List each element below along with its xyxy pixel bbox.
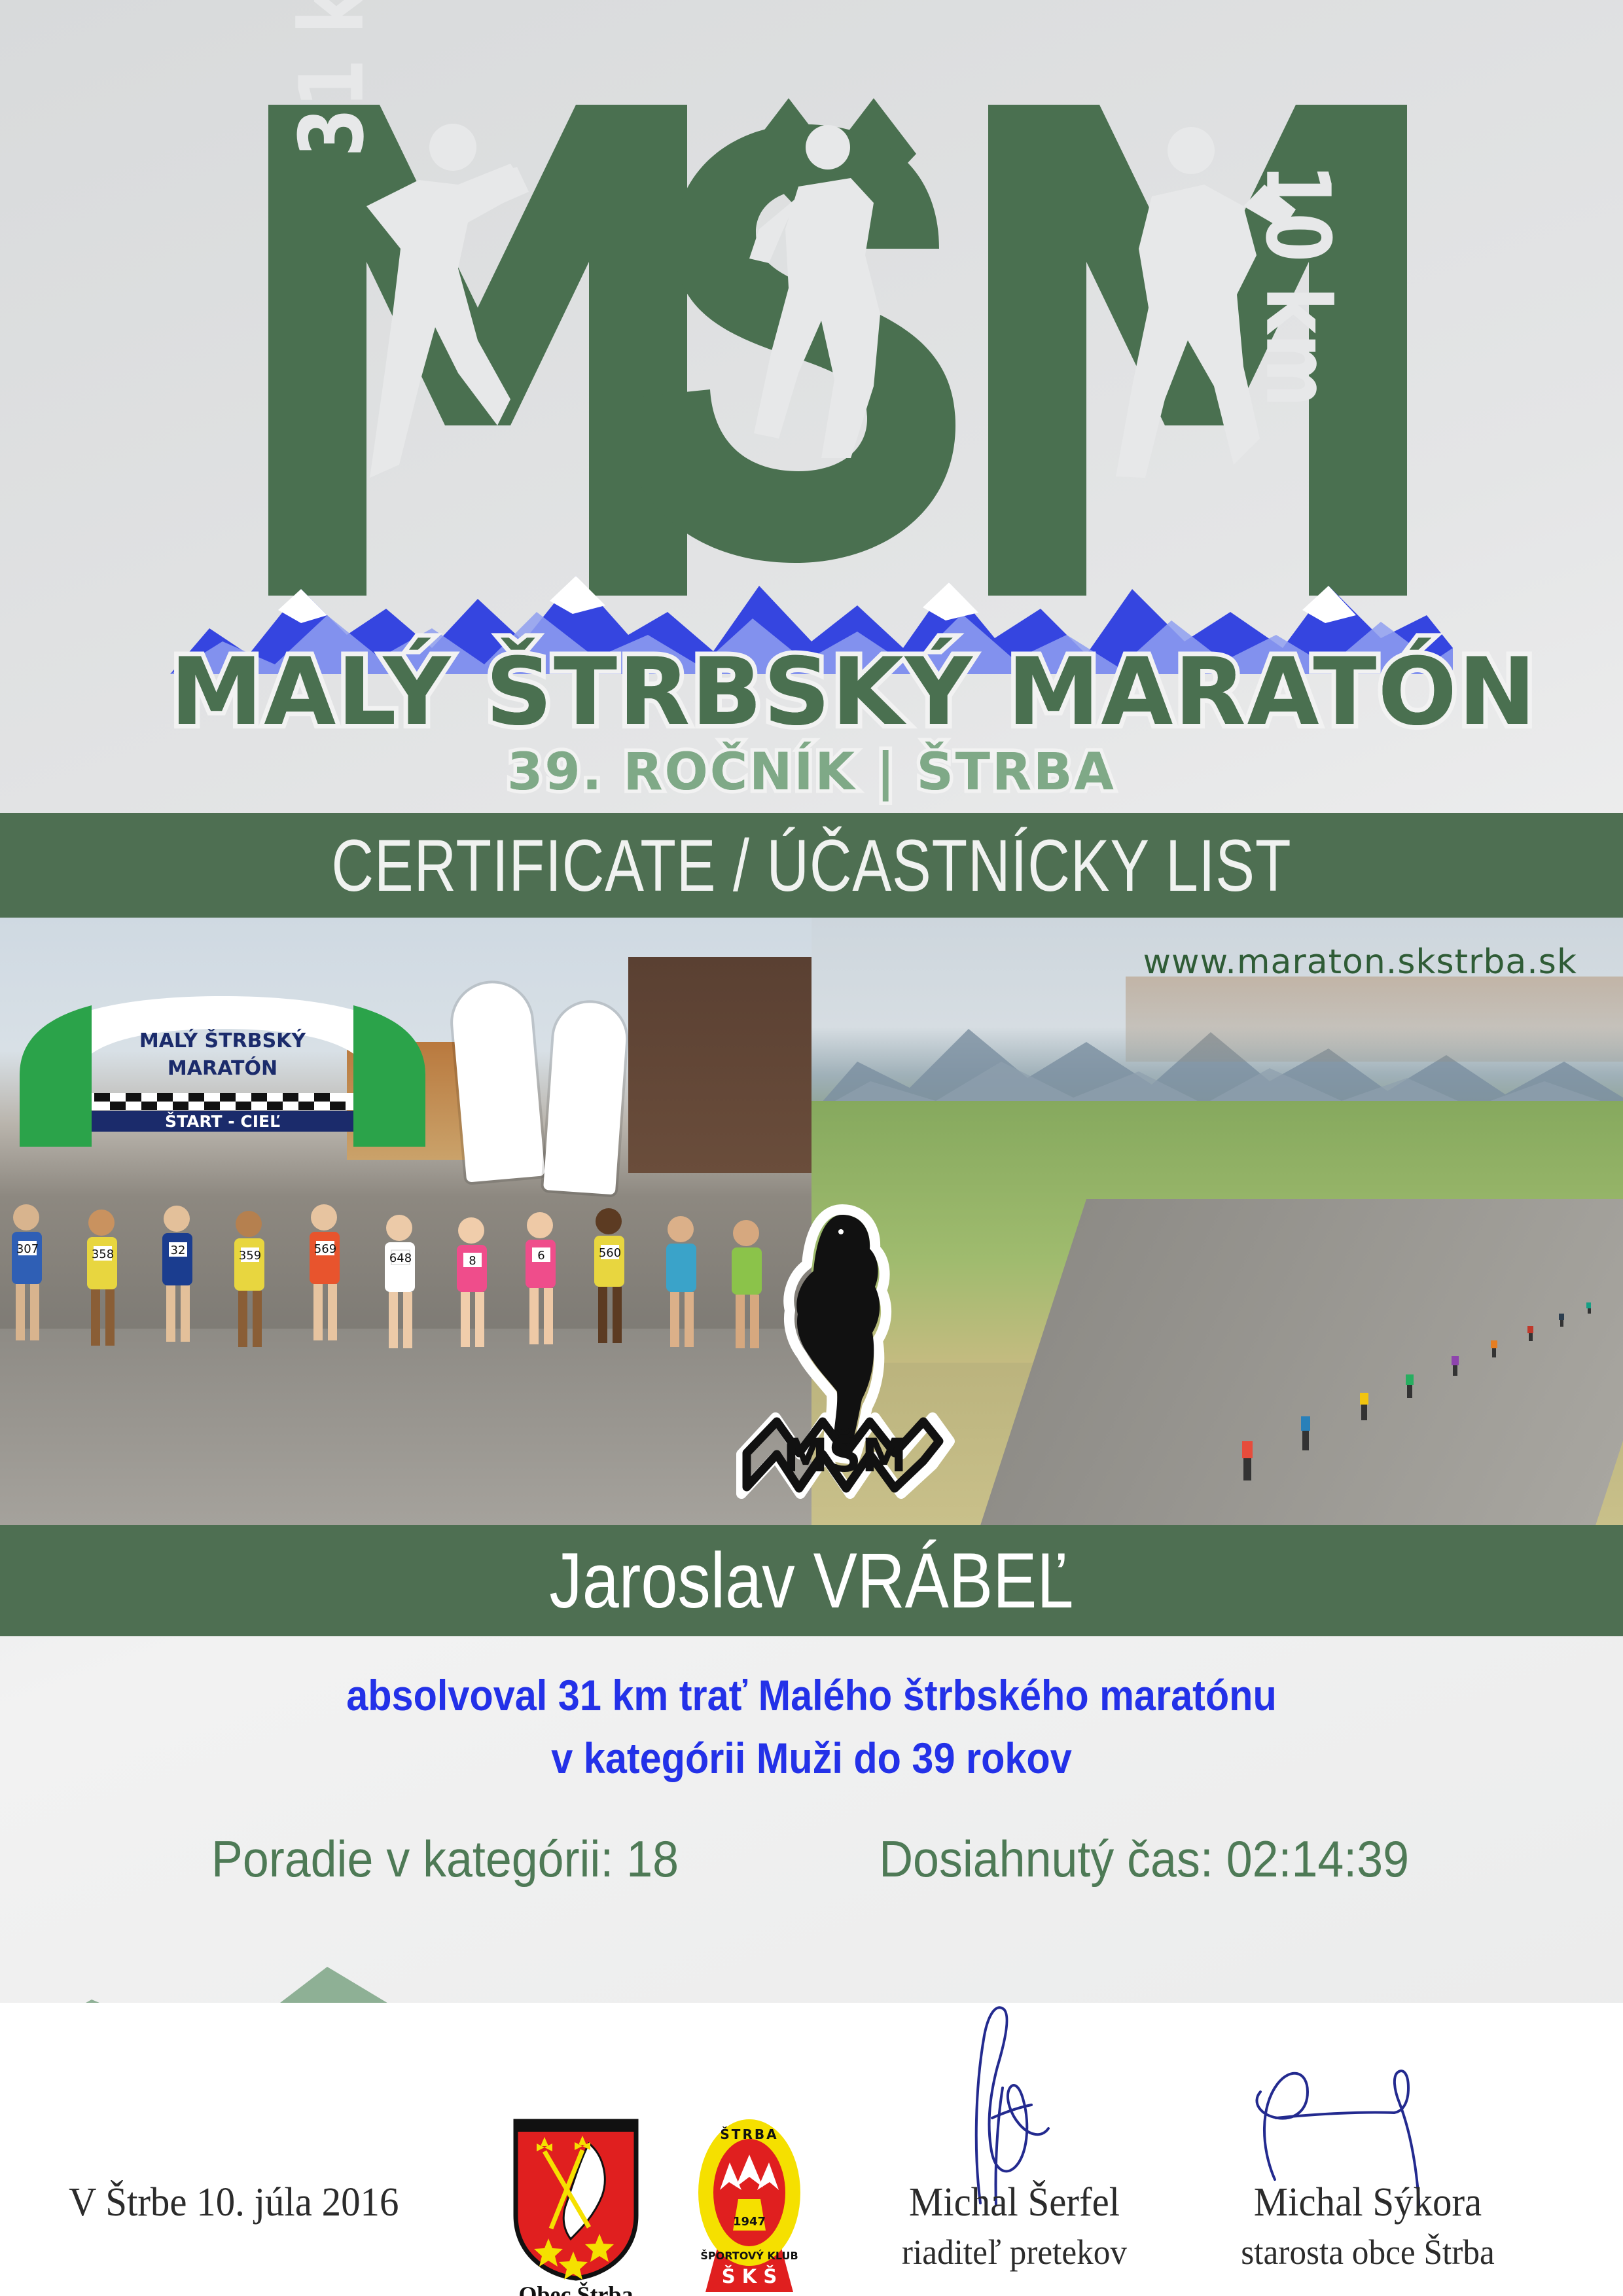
club-year: 1947: [733, 2215, 766, 2229]
svg-text:648: 648: [389, 1251, 412, 1265]
wordmark: MALÝ ŠTRBSKÝ MARATÓN: [170, 638, 1453, 746]
club-top-text: ŠTRBA: [720, 2126, 778, 2142]
rank-in-category: Poradie v kategórii: 18: [211, 1829, 679, 1889]
svg-text:32: 32: [171, 1244, 186, 1257]
signature-role-director: riaditeľ pretekov: [853, 2232, 1176, 2272]
footer: V Štrbe 10. júla 2016 Obec Štrba Š K Š: [0, 2081, 1623, 2296]
svg-text:ŠTART - CIEĽ: ŠTART - CIEĽ: [165, 1111, 280, 1131]
certificate-page: 31 km 10 km MALÝ ŠTRBSKÝ MARATÓN MALÝ ŠT…: [0, 0, 1623, 2296]
svg-text:358: 358: [92, 1247, 114, 1261]
photo-start-line: ŠTART - CIEĽ MALÝ ŠTRBSKÝ MARATÓN 307 35…: [0, 918, 811, 1525]
signature-name-director: Michal Šerfel: [853, 2179, 1176, 2226]
result-line-1: absolvoval 31 km trať Malého štrbského m…: [81, 1670, 1542, 1720]
result-line-2: v kategórii Muži do 39 rokov: [81, 1733, 1542, 1783]
signature-name-mayor: Michal Sýkora: [1206, 2179, 1529, 2226]
issue-date: V Štrbe 10. júla 2016: [69, 2179, 399, 2226]
inflatable-arch-icon: ŠTART - CIEĽ MALÝ ŠTRBSKÝ MARATÓN: [13, 996, 432, 1147]
stats-row: Poradie v kategórii: 18 Dosiahnutý čas: …: [0, 1829, 1623, 1889]
svg-text:8: 8: [469, 1254, 476, 1268]
logo-zone: 31 km 10 km MALÝ ŠTRBSKÝ MARATÓN MALÝ ŠT…: [0, 0, 1623, 813]
signature-serfel-icon: [844, 1990, 1185, 2206]
village-backdrop: [1126, 977, 1623, 1062]
msm-logo: 31 km 10 km MALÝ ŠTRBSKÝ MARATÓN MALÝ ŠT…: [170, 33, 1453, 772]
signature-sykora-icon: [1198, 1990, 1538, 2206]
svg-text:MALÝ ŠTRBSKÝ: MALÝ ŠTRBSKÝ: [139, 1028, 307, 1052]
certificate-title: CERTIFICATE / ÚČASTNÍCKY LIST: [332, 823, 1292, 908]
svg-text:307: 307: [16, 1242, 39, 1256]
participant-name: Jaroslav VRÁBEĽ: [549, 1535, 1073, 1626]
distant-runners-icon: [1165, 1258, 1623, 1525]
club-abbr: Š K Š: [722, 2265, 777, 2287]
result-zone: absolvoval 31 km trať Malého štrbského m…: [0, 1636, 1623, 1950]
building-dark: [628, 957, 811, 1173]
club-arc-text: ŠPORTOVÝ KLUB: [700, 2250, 798, 2262]
signature-role-mayor: starosta obce Štrba: [1206, 2232, 1529, 2272]
obec-strba-label: Obec Štrba: [497, 2281, 654, 2296]
distance-31km-label: 31 km: [281, 0, 383, 157]
svg-text:359: 359: [239, 1249, 261, 1263]
website-url: www.maraton.skstrba.sk: [1143, 942, 1577, 982]
event-flag-left: [450, 980, 545, 1182]
emblem-text: MŠM: [783, 1429, 907, 1482]
msm-runner-emblem-icon: MŠM: [730, 1191, 959, 1499]
event-flag-right: [543, 1001, 628, 1195]
sks-strba-club-logo-icon: Š K Š ŠTRBA 1947 ŠPORTOVÝ KLUB: [681, 2114, 818, 2294]
finish-time: Dosiahnutý čas: 02:14:39: [879, 1829, 1409, 1889]
runner-crowd-icon: 307 358 32 359 569 648 8 6 560: [0, 1198, 811, 1368]
svg-text:569: 569: [314, 1242, 336, 1256]
distance-10km-label: 10 km: [1246, 164, 1348, 407]
subtitle: 39. ROČNÍK | ŠTRBA: [170, 743, 1453, 802]
obec-strba-coat-of-arms-icon: [510, 2117, 641, 2281]
participant-name-band: Jaroslav VRÁBEĽ: [0, 1525, 1623, 1636]
svg-text:560: 560: [599, 1246, 621, 1260]
certificate-title-band: CERTIFICATE / ÚČASTNÍCKY LIST: [0, 813, 1623, 918]
svg-text:6: 6: [537, 1249, 544, 1263]
svg-text:MARATÓN: MARATÓN: [168, 1056, 277, 1080]
